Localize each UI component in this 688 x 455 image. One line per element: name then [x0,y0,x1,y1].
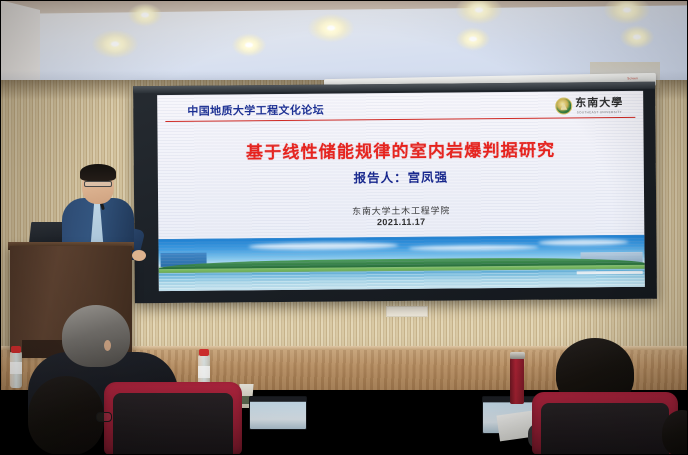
ceiling-spotlight [620,26,654,48]
ceiling-spotlight [308,14,354,42]
audience-glasses [96,412,112,422]
presenter-glasses [84,181,112,187]
audience-head-front [28,376,104,455]
bottle-cap [199,349,209,356]
university-logo: 东南大學 SOUTHEAST UNIVERSITY [555,97,623,115]
presenter-hair [80,164,116,181]
ceiling-spotlight [456,0,502,24]
wall-name-plate [386,306,428,317]
ceiling-spotlight [128,4,162,26]
forum-title: 中国地质大学工程文化论坛 [187,102,324,119]
lecture-hall-photo: Screen 中国地质大学工程文化论坛 东南大學 SOUTHEAST UNIVE… [0,0,688,455]
slide-main-title: 基于线性储能规律的室内岩爆判据研究 [158,135,644,164]
ceiling-spotlight [604,0,650,24]
thermos-cap [510,352,525,359]
desk-monitor [249,396,307,430]
bottle-cap [11,346,21,353]
bottle-label [10,362,22,374]
ceiling-spotlight [232,34,266,56]
photo-lake-reflection [159,269,645,291]
red-thermos [510,358,524,404]
slide-header: 中国地质大学工程文化论坛 东南大學 SOUTHEAST UNIVERSITY [167,97,633,120]
auditorium-chair [104,382,242,455]
slide-speaker-line: 报告人：宫凤强 [158,165,644,188]
screen-brand-label: Screen [627,76,638,80]
university-name-cn: 东南大學 [575,98,623,109]
audience-ear [104,340,111,351]
ceiling-spotlight [92,30,138,58]
presenter-hand [132,250,146,261]
ceiling-edge [0,0,688,14]
auditorium-chair [532,392,678,455]
slide-campus-photo [158,235,644,291]
audience-head-gray [62,305,130,367]
presentation-slide: 中国地质大学工程文化论坛 东南大學 SOUTHEAST UNIVERSITY 基… [157,91,645,291]
photo-bridge [577,271,643,275]
chair-cushion [541,403,669,455]
university-seal-icon [555,97,572,114]
ceiling-spotlight [456,28,490,50]
chair-cushion [113,393,233,455]
bottle-label [198,366,210,378]
projection-screen: 中国地质大学工程文化论坛 东南大學 SOUTHEAST UNIVERSITY 基… [133,82,657,304]
university-name-en: SOUTHEAST UNIVERSITY [575,110,623,114]
